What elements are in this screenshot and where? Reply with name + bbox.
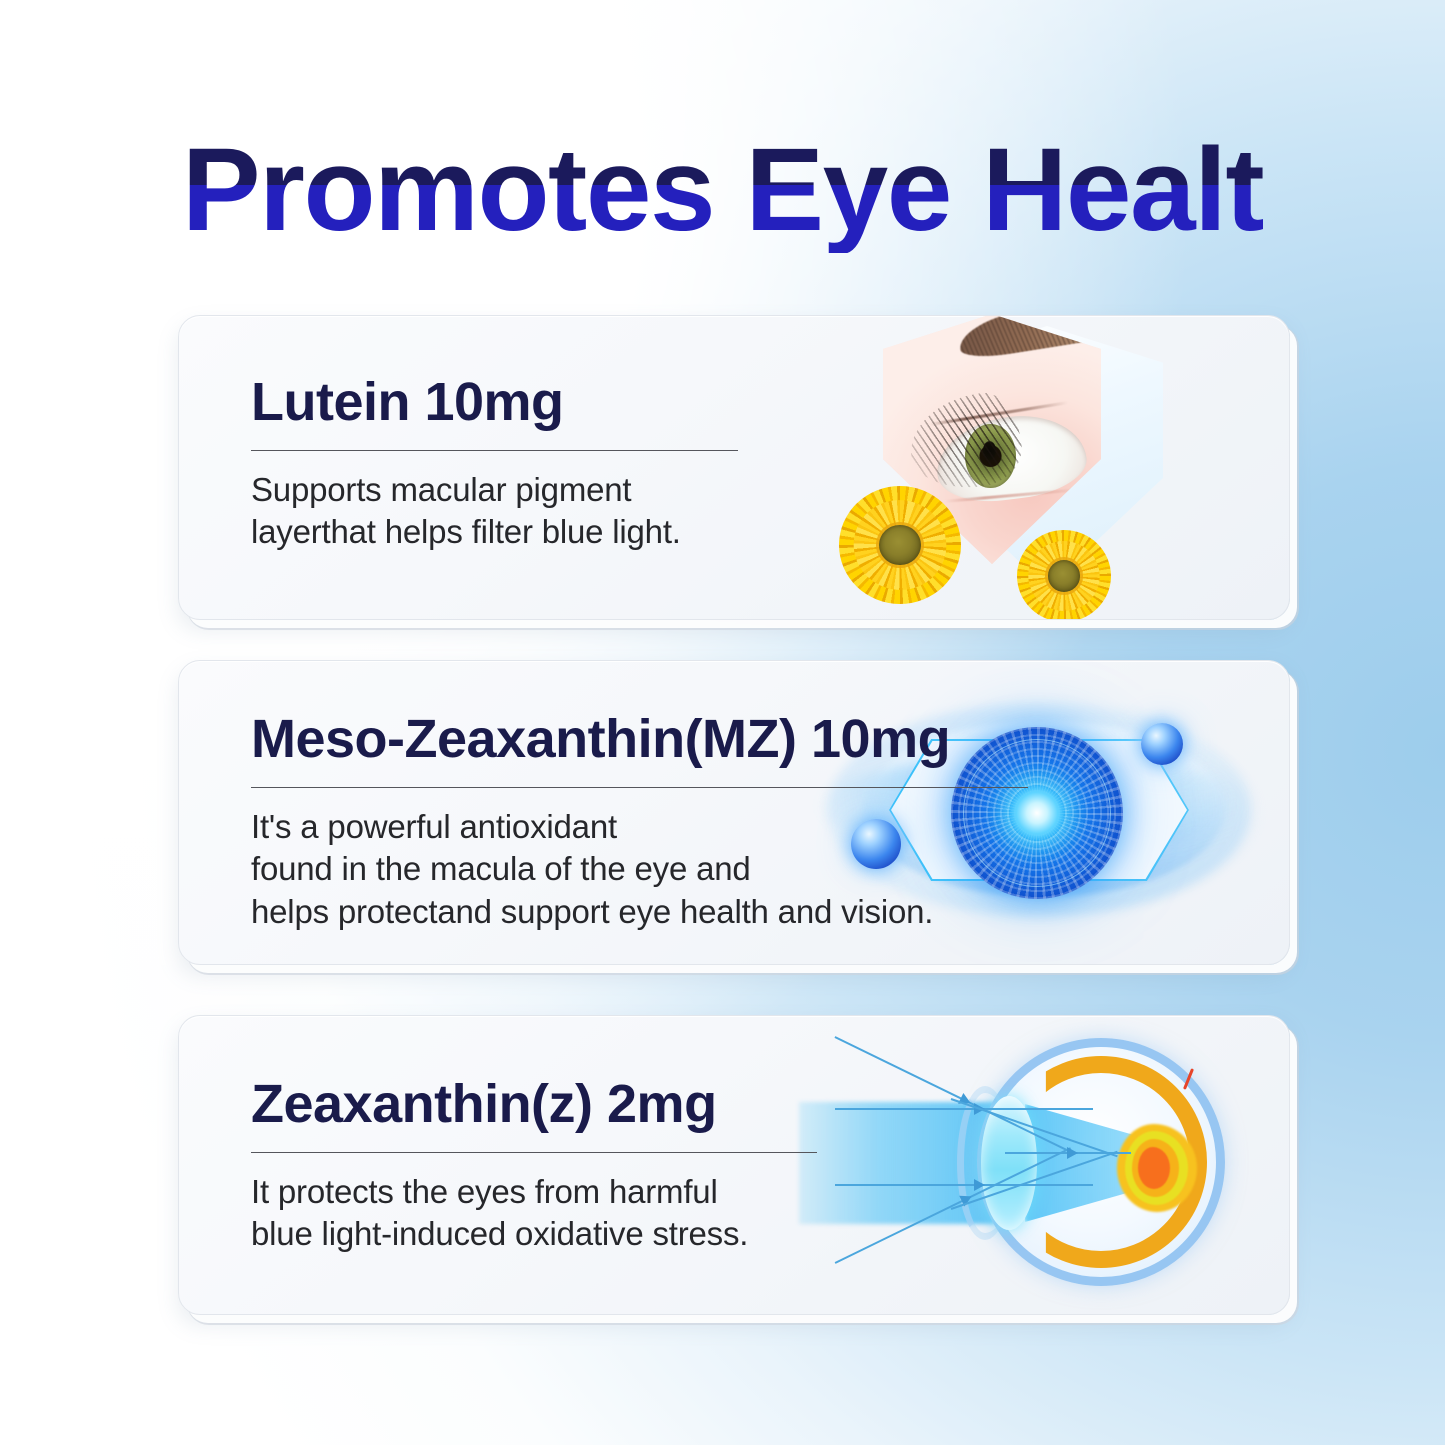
eye-skin xyxy=(883,315,1101,564)
macula-layer-outer xyxy=(1117,1124,1197,1212)
light-ray-center xyxy=(1005,1152,1131,1154)
refracted-ray-lower xyxy=(951,1151,1118,1210)
flower-petals-outer xyxy=(839,486,961,604)
flower-center xyxy=(1048,560,1080,591)
light-ray-top-diagonal xyxy=(835,1036,1069,1151)
protective-shield-icon xyxy=(931,326,1163,588)
shield-edge-highlight xyxy=(931,326,1163,588)
card-text-block: Lutein 10mg Supports macular pigment lay… xyxy=(251,374,738,554)
retina-ring xyxy=(995,1056,1207,1268)
cornea xyxy=(957,1086,1013,1240)
light-ray-lower xyxy=(835,1184,1093,1186)
flower-petals-inner xyxy=(1023,536,1104,616)
human-eye-photo xyxy=(883,315,1101,564)
lens xyxy=(981,1096,1037,1230)
orbiting-sphere-upper xyxy=(1141,723,1183,765)
fovea-marker xyxy=(1183,1068,1194,1090)
eyeball-sclera xyxy=(932,408,1091,508)
card-text-block: Meso-Zeaxanthin(MZ) 10mg It's a powerful… xyxy=(251,711,1028,933)
page-title-container: Promotes Eye Healt xyxy=(0,128,1445,253)
flower-center xyxy=(879,525,920,565)
sphere-halo-upper xyxy=(1127,709,1197,779)
ingredient-card-meso-zeaxanthin: Meso-Zeaxanthin(MZ) 10mg It's a powerful… xyxy=(178,660,1290,965)
heading-divider xyxy=(251,450,738,451)
blue-light-beam-focused xyxy=(1025,1104,1191,1222)
macula-layers xyxy=(1117,1124,1197,1212)
eyelashes xyxy=(905,390,1025,494)
shield-eye-marigold-illustration xyxy=(839,318,1219,620)
ingredient-card-lutein: Lutein 10mg Supports macular pigment lay… xyxy=(178,315,1290,620)
macula-layer-core xyxy=(1138,1147,1170,1189)
eyeball-globe xyxy=(977,1038,1225,1286)
light-ray-bottom-diagonal xyxy=(835,1147,1071,1263)
blue-light-beam-incoming xyxy=(799,1102,995,1224)
macula-layer-gold xyxy=(1132,1139,1179,1197)
marigold-flower-large xyxy=(839,486,961,604)
macula-layer-yellow xyxy=(1125,1131,1188,1205)
refracted-ray-upper xyxy=(951,1098,1118,1157)
shield-body xyxy=(931,326,1163,588)
green-iris xyxy=(965,424,1016,488)
card-text-block: Zeaxanthin(z) 2mg It protects the eyes f… xyxy=(251,1076,817,1256)
marigold-flower-small xyxy=(1017,530,1111,620)
card-heading: Meso-Zeaxanthin(MZ) 10mg xyxy=(251,711,1028,767)
heading-divider xyxy=(251,1152,817,1153)
card-body-text: It's a powerful antioxidant found in the… xyxy=(251,806,1028,933)
eye-cross-section-blue-light-diagram xyxy=(799,1015,1249,1312)
page-title: Promotes Eye Healt xyxy=(182,128,1263,253)
card-body-text: It protects the eyes from harmful blue l… xyxy=(251,1171,817,1255)
lower-lid-line xyxy=(944,488,1079,503)
ingredient-card-zeaxanthin: Zeaxanthin(z) 2mg It protects the eyes f… xyxy=(178,1015,1290,1315)
card-heading: Zeaxanthin(z) 2mg xyxy=(251,1076,817,1132)
eye-photo-inner xyxy=(883,315,1101,564)
heading-divider xyxy=(251,787,1028,788)
flower-petals-inner xyxy=(847,493,953,596)
infographic-page: Promotes Eye Healt Lutein 10mg Supports … xyxy=(0,0,1445,1445)
card-body-text: Supports macular pigment layerthat helps… xyxy=(251,469,738,553)
eyebrow xyxy=(956,315,1101,362)
flower-petals-outer xyxy=(1017,530,1111,620)
upper-lid-line xyxy=(930,401,1069,426)
light-ray-upper xyxy=(835,1108,1093,1110)
card-heading: Lutein 10mg xyxy=(251,374,738,430)
